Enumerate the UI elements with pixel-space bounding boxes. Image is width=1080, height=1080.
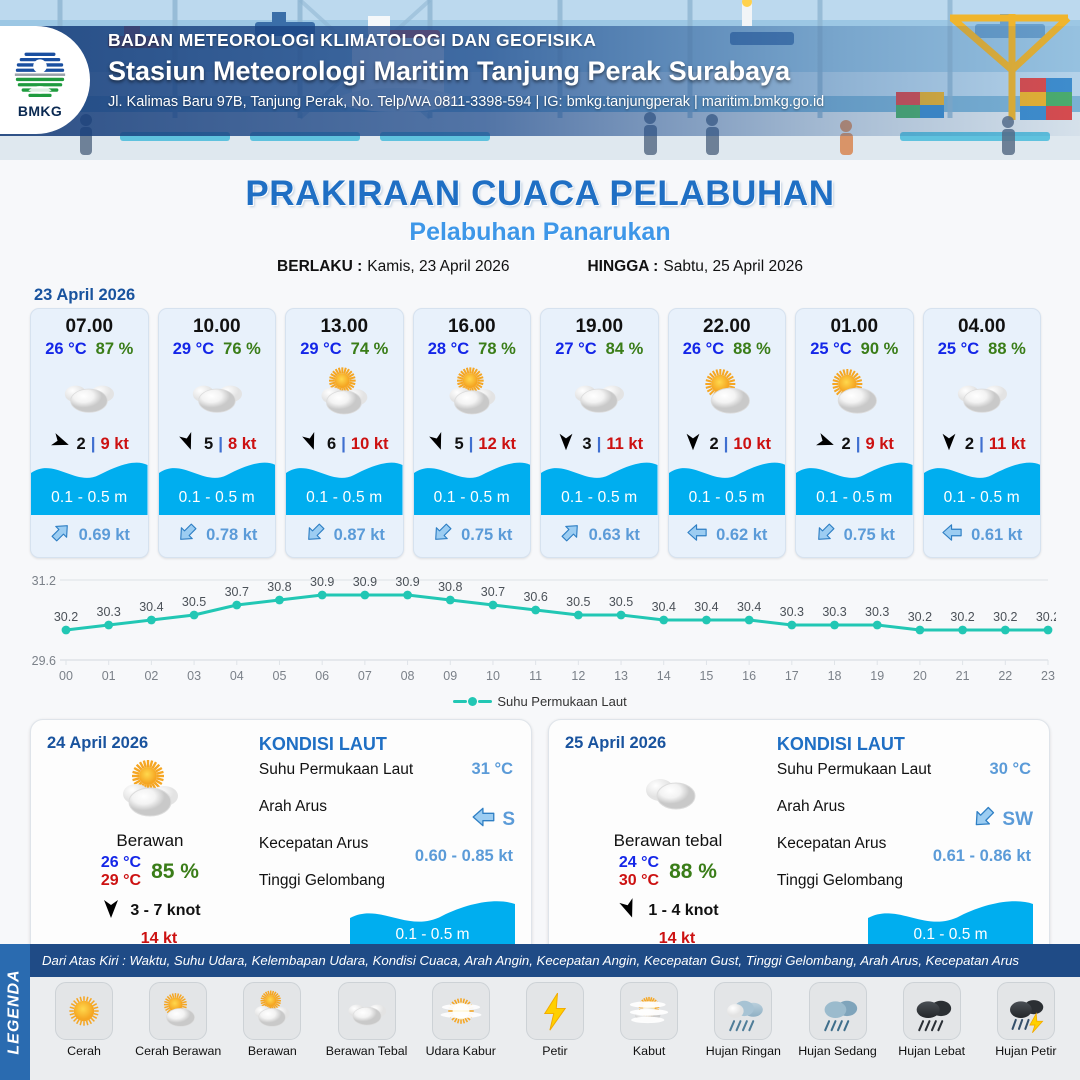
haze-icon (432, 982, 490, 1040)
sst-value: 30 °C (990, 760, 1031, 779)
legend-note: Dari Atas Kiri : Waktu, Suhu Udara, Kele… (30, 944, 1080, 977)
legend-tab: LEGENDA (0, 944, 30, 1080)
forecast-card: 07.00 26 °C 87 % (30, 308, 149, 558)
partly-cloudy-icon (47, 757, 253, 827)
svg-text:30.5: 30.5 (566, 595, 590, 609)
svg-text:16: 16 (742, 669, 756, 683)
current-direction-value: SW (971, 804, 1033, 835)
hingga-label: HINGGA : (587, 258, 658, 275)
card-wind-speed: 2 (77, 435, 86, 454)
card-humidity: 84 % (606, 340, 644, 359)
svg-text:30.9: 30.9 (310, 575, 334, 589)
svg-text:15: 15 (699, 669, 713, 683)
wind-separator: | (724, 434, 729, 454)
svg-text:04: 04 (230, 669, 244, 683)
svg-text:08: 08 (401, 669, 415, 683)
panel-humidity: 85 % (151, 860, 199, 884)
sst-label: Suhu Permukaan Laut (777, 761, 931, 778)
card-temp-humidity-row: 29 °C 74 % (286, 340, 403, 359)
wind-direction-arrow-icon (617, 897, 641, 926)
hingga-block: HINGGA :Sabtu, 25 April 2026 (587, 258, 803, 276)
legend-line-swatch-2 (478, 700, 492, 703)
wind-separator: | (91, 434, 96, 454)
current-speed-label: Kecepatan Arus (777, 835, 886, 852)
svg-text:22: 22 (998, 669, 1012, 683)
legend-label: Suhu Permukaan Laut (497, 694, 626, 709)
panel-left: 24 April 2026 (47, 734, 253, 954)
thick-cloud-icon (565, 757, 771, 827)
title-section: PRAKIRAAN CUACA PELABUHAN Pelabuhan Pana… (0, 160, 1080, 276)
current-direction-arrow-icon (814, 521, 837, 549)
legend-dot-swatch (468, 697, 477, 706)
sun-icon (55, 982, 113, 1040)
current-direction-label: Arah Arus (777, 798, 845, 815)
moderate-rain-icon (809, 982, 867, 1040)
mostly-cloudy-sun-icon (669, 363, 786, 425)
sea-conditions-heading: KONDISI LAUT (259, 734, 515, 755)
hingga-value: Sabtu, 25 April 2026 (663, 258, 803, 275)
fog-icon (620, 982, 678, 1040)
panel-temp-min: 26 °C (101, 854, 141, 872)
card-gust-speed: 9 kt (101, 435, 129, 454)
sea-row-sst: Suhu Permukaan Laut 30 °C (777, 761, 1033, 798)
panel-wind-row: 1 - 4 knot (565, 897, 771, 926)
forecast-card: 22.00 26 °C 88 % (668, 308, 787, 558)
current-speed-value: 0.60 - 0.85 kt (415, 847, 513, 866)
wind-separator: | (597, 434, 602, 454)
bmkg-logo-text: BMKG (18, 103, 62, 119)
svg-text:30.3: 30.3 (780, 605, 804, 619)
legend-line-swatch (453, 700, 467, 703)
sea-row-current-direction: Arah Arus S (259, 798, 515, 835)
card-current-row: 0.75 kt (414, 521, 531, 549)
card-temp-humidity-row: 25 °C 90 % (796, 340, 913, 359)
card-wave-height: 0.1 - 0.5 m (924, 489, 1041, 507)
legend-item: Hujan Petir (980, 982, 1072, 1058)
thunderstorm-icon (997, 982, 1055, 1040)
legend-item: Hujan Lebat (886, 982, 978, 1058)
panel-temp-min: 24 °C (619, 854, 659, 872)
panel-left: 25 April 2026 Berawan tebal (565, 734, 771, 954)
legend-item: Petir (509, 982, 601, 1058)
svg-text:20: 20 (913, 669, 927, 683)
card-humidity: 88 % (988, 340, 1026, 359)
wind-separator: | (341, 434, 346, 454)
card-wave-height: 0.1 - 0.5 m (541, 489, 658, 507)
card-wave-height: 0.1 - 0.5 m (669, 489, 786, 507)
card-current-speed: 0.78 kt (206, 526, 257, 545)
cloudy-icon (159, 363, 276, 425)
svg-text:30.7: 30.7 (481, 585, 505, 599)
forecast-card: 16.00 28 °C 78 % (413, 308, 532, 558)
cloudy-icon (541, 363, 658, 425)
contact-info: Jl. Kalimas Baru 97B, Tanjung Perak, No.… (108, 94, 824, 110)
svg-text:11: 11 (529, 669, 542, 683)
svg-text:06: 06 (315, 669, 329, 683)
panel-temp-range: 24 °C 30 °C (619, 854, 659, 890)
current-direction-arrow-icon (471, 804, 497, 835)
legend-item-label: Berawan Tebal (326, 1044, 408, 1058)
card-current-row: 0.75 kt (796, 521, 913, 549)
panel-temp-max: 30 °C (619, 872, 659, 890)
svg-text:30.6: 30.6 (523, 590, 547, 604)
card-time: 16.00 (414, 316, 531, 338)
card-wind-speed: 2 (965, 435, 974, 454)
panel-wind-speed: 3 - 7 knot (130, 902, 200, 920)
legend-item-label: Petir (542, 1044, 567, 1058)
forecast-card: 13.00 29 °C 74 % (285, 308, 404, 558)
legend-item: Cerah Berawan (132, 982, 224, 1058)
svg-text:14: 14 (657, 669, 671, 683)
panel-condition: Berawan tebal (565, 831, 771, 851)
card-current-speed: 0.75 kt (461, 526, 512, 545)
legend-item: Udara Kabur (415, 982, 507, 1058)
forecast-card: 10.00 29 °C 76 % (158, 308, 277, 558)
current-direction-arrow-icon (49, 521, 72, 549)
daily-forecast-panel: 25 April 2026 Berawan tebal (548, 719, 1050, 969)
card-gust-speed: 12 kt (478, 435, 516, 454)
svg-text:30.4: 30.4 (139, 600, 163, 614)
svg-text:13: 13 (614, 669, 628, 683)
svg-text:12: 12 (571, 669, 585, 683)
svg-text:07: 07 (358, 669, 372, 683)
card-humidity: 88 % (733, 340, 771, 359)
card-current-row: 0.87 kt (286, 521, 403, 549)
card-gust-speed: 11 kt (989, 435, 1026, 454)
legend-item-label: Hujan Lebat (898, 1044, 965, 1058)
legend-item-label: Hujan Petir (995, 1044, 1056, 1058)
validity-row: BERLAKU :Kamis, 23 April 2026 HINGGA :Sa… (0, 258, 1080, 276)
card-gust-speed: 9 kt (866, 435, 894, 454)
legend-section: LEGENDA Dari Atas Kiri : Waktu, Suhu Uda… (0, 944, 1080, 1080)
current-speed-value: 0.61 - 0.86 kt (933, 847, 1031, 866)
svg-text:30.4: 30.4 (737, 600, 761, 614)
panel-sea-conditions: KONDISI LAUT Suhu Permukaan Laut 30 °C A… (771, 734, 1033, 954)
card-wind-speed: 6 (327, 435, 336, 454)
card-time: 10.00 (159, 316, 276, 338)
legend-item: Cerah (38, 982, 130, 1058)
page-header: BMKG BADAN METEOROLOGI KLIMATOLOGI DAN G… (0, 0, 1080, 160)
card-current-speed: 0.69 kt (79, 526, 130, 545)
wave-height-label: Tinggi Gelombang (259, 872, 385, 889)
card-air-temperature: 25 °C (810, 340, 851, 359)
wind-separator: | (469, 434, 474, 454)
wind-direction-arrow-icon (99, 897, 123, 926)
svg-text:09: 09 (443, 669, 457, 683)
card-wave-height: 0.1 - 0.5 m (159, 489, 276, 507)
svg-text:30.9: 30.9 (353, 575, 377, 589)
sst-label: Suhu Permukaan Laut (259, 761, 413, 778)
panel-wind-speed: 1 - 4 knot (648, 902, 718, 920)
legend-item: Hujan Ringan (697, 982, 789, 1058)
legend-item-label: Cerah (67, 1044, 101, 1058)
svg-text:30.3: 30.3 (865, 605, 889, 619)
svg-text:30.7: 30.7 (225, 585, 249, 599)
card-time: 22.00 (669, 316, 786, 338)
card-humidity: 76 % (223, 340, 261, 359)
svg-text:30.8: 30.8 (438, 580, 462, 594)
card-current-row: 0.62 kt (669, 521, 786, 549)
svg-text:30.3: 30.3 (822, 605, 846, 619)
legend-items: Cerah Cerah Berawan (30, 978, 1080, 1058)
berlaku-label: BERLAKU : (277, 258, 362, 275)
svg-text:30.2: 30.2 (54, 610, 78, 624)
wind-separator: | (979, 434, 984, 454)
cloudy-icon (31, 363, 148, 425)
svg-text:30.2: 30.2 (993, 610, 1017, 624)
svg-text:30.9: 30.9 (395, 575, 419, 589)
page-title: PRAKIRAAN CUACA PELABUHAN (0, 174, 1080, 214)
card-time: 04.00 (924, 316, 1041, 338)
svg-text:19: 19 (870, 669, 884, 683)
sea-row-current-speed: Kecepatan Arus 0.61 - 0.86 kt (777, 835, 1033, 872)
sea-row-current-direction: Arah Arus SW (777, 798, 1033, 835)
daily-forecast-panel: 24 April 2026 (30, 719, 532, 969)
card-current-row: 0.69 kt (31, 521, 148, 549)
partly-cloudy-icon (286, 363, 403, 425)
svg-text:29.6: 29.6 (32, 654, 56, 668)
card-temp-humidity-row: 26 °C 87 % (31, 340, 148, 359)
current-direction-arrow-icon (941, 521, 964, 549)
berlaku-block: BERLAKU :Kamis, 23 April 2026 (277, 258, 509, 276)
svg-text:02: 02 (144, 669, 158, 683)
page-subtitle: Pelabuhan Panarukan (0, 218, 1080, 247)
card-air-temperature: 25 °C (938, 340, 979, 359)
wave-height-label: Tinggi Gelombang (777, 872, 903, 889)
card-temp-humidity-row: 28 °C 78 % (414, 340, 531, 359)
svg-text:30.2: 30.2 (950, 610, 974, 624)
forecast-card: 04.00 25 °C 88 % (923, 308, 1042, 558)
current-direction-arrow-icon (431, 521, 454, 549)
legend-item-label: Kabut (633, 1044, 665, 1058)
svg-text:05: 05 (273, 669, 287, 683)
card-current-speed: 0.61 kt (971, 526, 1022, 545)
card-air-temperature: 26 °C (683, 340, 724, 359)
card-current-row: 0.78 kt (159, 521, 276, 549)
card-air-temperature: 28 °C (428, 340, 469, 359)
panel-humidity: 88 % (669, 860, 717, 884)
current-direction-arrow-icon (304, 521, 327, 549)
legend-item: Berawan (226, 982, 318, 1058)
card-time: 13.00 (286, 316, 403, 338)
forecast-date-label: 23 April 2026 (34, 286, 1080, 305)
legend-item: Hujan Sedang (792, 982, 884, 1058)
legend-item-label: Cerah Berawan (135, 1044, 221, 1058)
svg-text:30.4: 30.4 (652, 600, 676, 614)
panel-sea-conditions: KONDISI LAUT Suhu Permukaan Laut 31 °C A… (253, 734, 515, 954)
sst-value: 31 °C (472, 760, 513, 779)
light-rain-icon (714, 982, 772, 1040)
panel-condition: Berawan (47, 831, 253, 851)
svg-text:17: 17 (785, 669, 799, 683)
card-wind-speed: 2 (709, 435, 718, 454)
current-direction-arrow-icon (686, 521, 709, 549)
lightning-icon (526, 982, 584, 1040)
svg-text:30.3: 30.3 (97, 605, 121, 619)
card-wave-height: 0.1 - 0.5 m (414, 489, 531, 507)
card-temp-humidity-row: 26 °C 88 % (669, 340, 786, 359)
svg-text:23: 23 (1041, 669, 1055, 683)
card-air-temperature: 26 °C (45, 340, 86, 359)
current-direction-arrow-icon (971, 804, 997, 835)
wind-separator: | (218, 434, 223, 454)
card-current-speed: 0.62 kt (716, 526, 767, 545)
card-gust-speed: 10 kt (733, 435, 771, 454)
svg-text:30.8: 30.8 (267, 580, 291, 594)
svg-text:30.5: 30.5 (609, 595, 633, 609)
card-humidity: 87 % (96, 340, 134, 359)
partly-cloudy-icon (243, 982, 301, 1040)
card-air-temperature: 29 °C (173, 340, 214, 359)
card-wind-speed: 5 (454, 435, 463, 454)
legend-item: Berawan Tebal (321, 982, 413, 1058)
card-air-temperature: 27 °C (555, 340, 596, 359)
card-humidity: 90 % (861, 340, 899, 359)
card-wave-height: 0.1 - 0.5 m (796, 489, 913, 507)
current-direction-text: SW (1002, 809, 1033, 831)
forecast-card: 19.00 27 °C 84 % (540, 308, 659, 558)
panel-temp-humidity: 24 °C 30 °C 88 % (565, 854, 771, 890)
legend-item-label: Hujan Sedang (798, 1044, 877, 1058)
svg-text:18: 18 (828, 669, 842, 683)
cloudy-icon (924, 363, 1041, 425)
card-air-temperature: 29 °C (300, 340, 341, 359)
svg-text:30.4: 30.4 (694, 600, 718, 614)
card-temp-humidity-row: 27 °C 84 % (541, 340, 658, 359)
card-humidity: 74 % (351, 340, 389, 359)
cloudy-icon (338, 982, 396, 1040)
card-gust-speed: 8 kt (228, 435, 256, 454)
daily-panels: 24 April 2026 (0, 709, 1080, 969)
card-current-speed: 0.63 kt (589, 526, 640, 545)
sea-conditions-heading: KONDISI LAUT (777, 734, 1033, 755)
legend-tab-text: LEGENDA (6, 969, 24, 1054)
card-temp-humidity-row: 29 °C 76 % (159, 340, 276, 359)
svg-text:30.5: 30.5 (182, 595, 206, 609)
card-current-row: 0.63 kt (541, 521, 658, 549)
sun-cloud-icon (149, 982, 207, 1040)
sea-row-sst: Suhu Permukaan Laut 31 °C (259, 761, 515, 798)
svg-text:30.2: 30.2 (1036, 610, 1056, 624)
card-time: 07.00 (31, 316, 148, 338)
panel-temp-range: 26 °C 29 °C (101, 854, 141, 890)
bmkg-logo-icon (11, 42, 69, 102)
legend-item: Kabut (603, 982, 695, 1058)
forecast-card-row: 07.00 26 °C 87 % (0, 308, 1080, 558)
card-time: 19.00 (541, 316, 658, 338)
card-temp-humidity-row: 25 °C 88 % (924, 340, 1041, 359)
svg-text:03: 03 (187, 669, 201, 683)
svg-text:10: 10 (486, 669, 500, 683)
card-wave-height: 0.1 - 0.5 m (31, 489, 148, 507)
card-current-speed: 0.75 kt (844, 526, 895, 545)
mostly-cloudy-sun-icon (796, 363, 913, 425)
svg-text:21: 21 (956, 669, 970, 683)
svg-text:00: 00 (59, 669, 73, 683)
heavy-rain-icon (903, 982, 961, 1040)
card-current-speed: 0.87 kt (334, 526, 385, 545)
card-current-row: 0.61 kt (924, 521, 1041, 549)
svg-text:31.2: 31.2 (32, 574, 56, 588)
legend-item-label: Berawan (248, 1044, 297, 1058)
sst-chart-svg: 31.229.600010203040506070809101112131415… (24, 570, 1056, 690)
current-direction-label: Arah Arus (259, 798, 327, 815)
legend-item-label: Hujan Ringan (706, 1044, 781, 1058)
legend-item-label: Udara Kabur (426, 1044, 496, 1058)
panel-wave-height-value: 0.1 - 0.5 m (868, 926, 1033, 944)
panel-date: 25 April 2026 (565, 734, 771, 753)
card-gust-speed: 11 kt (606, 435, 643, 454)
svg-text:30.2: 30.2 (908, 610, 932, 624)
card-time: 01.00 (796, 316, 913, 338)
card-gust-speed: 10 kt (351, 435, 389, 454)
card-wind-speed: 5 (204, 435, 213, 454)
partly-cloudy-icon (414, 363, 531, 425)
chart-legend: Suhu Permukaan Laut (0, 691, 1080, 709)
panel-temp-humidity: 26 °C 29 °C 85 % (47, 854, 253, 890)
current-direction-arrow-icon (176, 521, 199, 549)
berlaku-value: Kamis, 23 April 2026 (367, 258, 509, 275)
current-direction-text: S (502, 809, 515, 831)
current-direction-value: S (471, 804, 515, 835)
card-wave-height: 0.1 - 0.5 m (286, 489, 403, 507)
panel-date: 24 April 2026 (47, 734, 253, 753)
current-direction-arrow-icon (559, 521, 582, 549)
wind-separator: | (856, 434, 861, 454)
station-name: Stasiun Meteorologi Maritim Tanjung Pera… (108, 56, 824, 87)
forecast-card: 01.00 25 °C 90 % (795, 308, 914, 558)
panel-temp-max: 29 °C (101, 872, 141, 890)
current-speed-label: Kecepatan Arus (259, 835, 368, 852)
sea-row-current-speed: Kecepatan Arus 0.60 - 0.85 kt (259, 835, 515, 872)
svg-text:01: 01 (102, 669, 116, 683)
card-wind-speed: 3 (582, 435, 591, 454)
card-wind-speed: 2 (842, 435, 851, 454)
agency-name: BADAN METEOROLOGI KLIMATOLOGI DAN GEOFIS… (108, 30, 824, 51)
card-humidity: 78 % (478, 340, 516, 359)
sst-chart: 31.229.600010203040506070809101112131415… (24, 570, 1056, 690)
panel-wind-row: 3 - 7 knot (47, 897, 253, 926)
panel-wave-height-value: 0.1 - 0.5 m (350, 926, 515, 944)
